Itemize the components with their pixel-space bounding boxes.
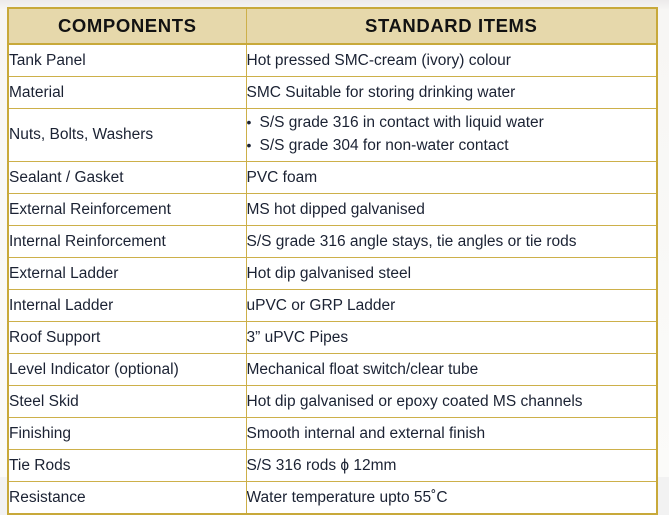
cell-component: External Ladder — [8, 258, 246, 290]
cell-standard-item: PVC foam — [246, 162, 657, 194]
column-header-standard-items: STANDARD ITEMS — [246, 8, 657, 44]
cell-standard-item: SMC Suitable for storing drinking water — [246, 77, 657, 109]
table-row: External LadderHot dip galvanised steel — [8, 258, 657, 290]
cell-standard-item: Hot pressed SMC-cream (ivory) colour — [246, 44, 657, 77]
table-row: Internal ReinforcementS/S grade 316 angl… — [8, 226, 657, 258]
column-header-standard-items-label: STANDARD ITEMS — [247, 17, 657, 36]
cell-component: Internal Ladder — [8, 290, 246, 322]
cell-component: Resistance — [8, 482, 246, 515]
specification-table: COMPONENTS STANDARD ITEMS Tank PanelHot … — [7, 7, 658, 515]
bullet-item: S/S grade 316 in contact with liquid wat… — [247, 112, 657, 135]
table-row: Steel SkidHot dip galvanised or epoxy co… — [8, 386, 657, 418]
cell-component: External Reinforcement — [8, 194, 246, 226]
header-row: COMPONENTS STANDARD ITEMS — [8, 8, 657, 44]
table-row: Nuts, Bolts, WashersS/S grade 316 in con… — [8, 109, 657, 162]
bullet-item: S/S grade 304 for non-water contact — [247, 135, 657, 158]
table-row: ResistanceWater temperature upto 55˚C — [8, 482, 657, 515]
table-row: Roof Support3” uPVC Pipes — [8, 322, 657, 354]
cell-component: Finishing — [8, 418, 246, 450]
column-header-components-label: COMPONENTS — [9, 17, 246, 36]
cell-component: Steel Skid — [8, 386, 246, 418]
bullet-list: S/S grade 316 in contact with liquid wat… — [247, 112, 657, 158]
cell-component: Material — [8, 77, 246, 109]
table-row: Sealant / GasketPVC foam — [8, 162, 657, 194]
cell-standard-item: S/S grade 316 angle stays, tie angles or… — [246, 226, 657, 258]
cell-component: Level Indicator (optional) — [8, 354, 246, 386]
cell-standard-item: S/S grade 316 in contact with liquid wat… — [246, 109, 657, 162]
table-row: Tank PanelHot pressed SMC-cream (ivory) … — [8, 44, 657, 77]
cell-standard-item: Hot dip galvanised or epoxy coated MS ch… — [246, 386, 657, 418]
cell-component: Nuts, Bolts, Washers — [8, 109, 246, 162]
cell-standard-item: Water temperature upto 55˚C — [246, 482, 657, 515]
table-body: Tank PanelHot pressed SMC-cream (ivory) … — [8, 44, 657, 514]
table-header: COMPONENTS STANDARD ITEMS — [8, 8, 657, 44]
cell-component: Roof Support — [8, 322, 246, 354]
cell-standard-item: MS hot dipped galvanised — [246, 194, 657, 226]
table-row: MaterialSMC Suitable for storing drinkin… — [8, 77, 657, 109]
cell-standard-item: Smooth internal and external finish — [246, 418, 657, 450]
table-row: Level Indicator (optional)Mechanical flo… — [8, 354, 657, 386]
cell-standard-item: Hot dip galvanised steel — [246, 258, 657, 290]
column-header-components: COMPONENTS — [8, 8, 246, 44]
table-row: Internal LadderuPVC or GRP Ladder — [8, 290, 657, 322]
page-background: COMPONENTS STANDARD ITEMS Tank PanelHot … — [0, 0, 669, 477]
cell-component: Sealant / Gasket — [8, 162, 246, 194]
cell-standard-item: Mechanical float switch/clear tube — [246, 354, 657, 386]
cell-component: Internal Reinforcement — [8, 226, 246, 258]
table-row: External ReinforcementMS hot dipped galv… — [8, 194, 657, 226]
cell-standard-item: uPVC or GRP Ladder — [246, 290, 657, 322]
cell-component: Tank Panel — [8, 44, 246, 77]
cell-standard-item: 3” uPVC Pipes — [246, 322, 657, 354]
table-row: FinishingSmooth internal and external fi… — [8, 418, 657, 450]
